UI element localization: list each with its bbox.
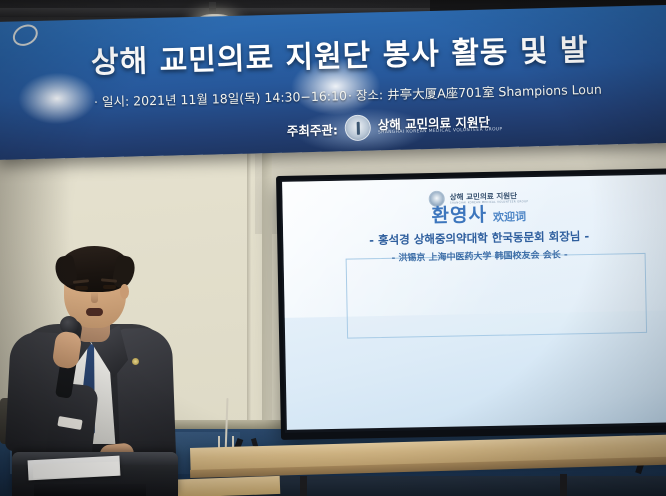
wall-seam xyxy=(247,150,251,450)
speaker-mouth xyxy=(86,308,103,316)
banner-tie-icon xyxy=(9,20,41,49)
speaker-ear xyxy=(120,284,129,299)
banner-place-line: · 장소: 井亭大厦A座701室 Shampions Loun xyxy=(348,79,602,104)
slide-title-kr: 환영사 xyxy=(431,204,487,227)
speaker-eye-left xyxy=(75,286,88,290)
organization-seal-icon xyxy=(344,115,371,142)
table-leg xyxy=(560,474,567,496)
presentation-slide: 상해 교민의료 지원단 SHANGHAI KOREAN MEDICAL VOLU… xyxy=(282,174,666,429)
slide-title-cn: 欢迎词 xyxy=(493,210,526,224)
photo-scene: 상해 교민의료 지원단 봉사 활동 및 발 · 일시: 2021년 11월 18… xyxy=(0,0,666,496)
presentation-display[interactable]: 상해 교민의료 지원단 SHANGHAI KOREAN MEDICAL VOLU… xyxy=(276,168,666,440)
speaker-eye-right xyxy=(103,285,116,289)
speaker-nose xyxy=(91,291,98,303)
lapel-pin-icon xyxy=(132,358,139,365)
banner-light-glare xyxy=(17,71,96,125)
podium-papers-sheet xyxy=(33,462,119,479)
banner-host-name-en: SHANGHAI KOREAN MEDICAL VOLUNTEER GROUP xyxy=(378,129,503,137)
table-leg xyxy=(300,476,307,496)
banner-host-names: 상해 교민의료 지원단 SHANGHAI KOREAN MEDICAL VOLU… xyxy=(378,115,503,136)
banner-title: 상해 교민의료 지원단 봉사 활동 및 발 xyxy=(90,25,589,82)
slide-content-box xyxy=(346,253,647,339)
banner-host-row: 주최주관: 상해 교민의료 지원단 SHANGHAI KOREAN MEDICA… xyxy=(286,111,502,142)
event-banner: 상해 교민의료 지원단 봉사 활동 및 발 · 일시: 2021년 11월 18… xyxy=(0,5,666,160)
banner-host-label: 주최주관: xyxy=(287,119,338,139)
podium-base xyxy=(34,484,146,496)
